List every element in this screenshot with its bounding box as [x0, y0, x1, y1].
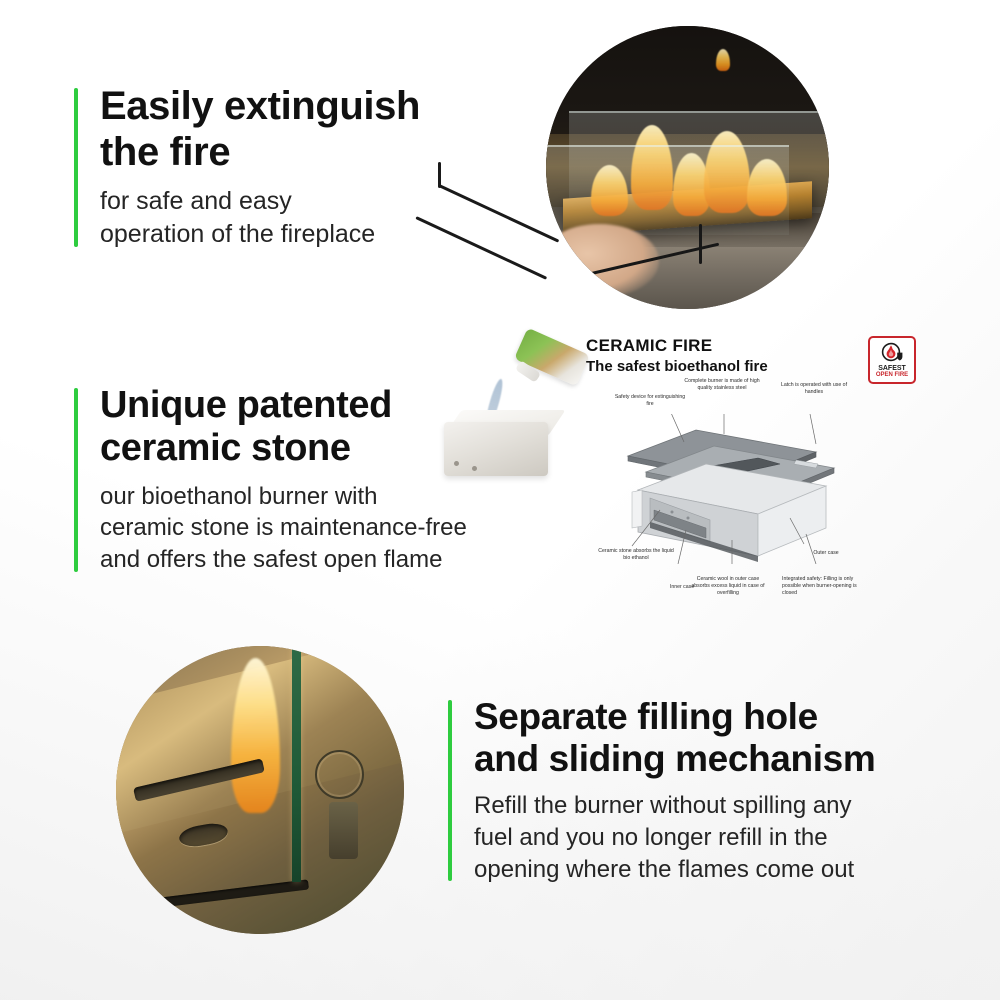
- photo-flame-6: [716, 49, 730, 72]
- accent-bar-2: [74, 388, 78, 572]
- bioethanol-bottle: [514, 328, 590, 387]
- heading-filling-hole: Separate filling hole and sliding mechan…: [474, 696, 948, 780]
- photo-lit-burner: [546, 26, 829, 309]
- accent-bar-3: [448, 700, 452, 881]
- badge-line-2: OPEN FIRE: [876, 372, 908, 379]
- heading-line-1: Easily extinguish: [100, 84, 494, 130]
- section-filling-hole-text: Separate filling hole and sliding mechan…: [448, 696, 948, 885]
- sliding-mechanism-knob: [329, 802, 358, 860]
- glass-panel-edge: [292, 646, 301, 882]
- sub-line-2: ceramic stone is maintenance-free: [100, 512, 544, 544]
- sub-line-2: fuel and you no longer refill in the: [474, 822, 948, 854]
- callout-ceramic-wool: Ceramic wool in outer case absorbs exces…: [690, 576, 766, 597]
- stone-hole-2: [472, 466, 477, 471]
- callout-outer-case: Outer case: [788, 550, 864, 557]
- flame-shield-icon: [879, 342, 905, 364]
- ceramic-fire-diagram: CERAMIC FIRE The safest bioethanol fire …: [586, 336, 916, 616]
- callout-ceramic-stone: Ceramic stone absorbs the liquid bio eth…: [598, 548, 674, 562]
- badge-line-1: SAFEST: [878, 365, 906, 372]
- accent-bar-1: [74, 88, 78, 247]
- stone-hole-1: [454, 461, 459, 466]
- heading-line-1: Separate filling hole: [474, 696, 948, 738]
- photo-ceramic-stone-pour: [432, 338, 592, 488]
- photo-glass-front-panel: [546, 145, 789, 236]
- sub-line-3: opening where the flames come out: [474, 854, 948, 886]
- exploded-burner-drawing: [620, 414, 868, 564]
- heading-line-2: and sliding mechanism: [474, 738, 948, 780]
- sub-line-1: Refill the burner without spilling any: [474, 790, 948, 822]
- diagram-title: CERAMIC FIRE: [586, 336, 916, 356]
- subtext-ceramic-stone: our bioethanol burner with ceramic stone…: [100, 481, 544, 576]
- safest-open-fire-badge: SAFEST OPEN FIRE: [868, 336, 916, 384]
- subtext-filling-hole: Refill the burner without spilling any f…: [474, 790, 948, 885]
- sliding-mechanism-wheel: [315, 750, 364, 799]
- photo-rod-vertical: [699, 224, 702, 264]
- photo-burner-closeup: [116, 646, 404, 934]
- infographic-canvas: Easily extinguish the fire for safe and …: [0, 0, 1000, 1000]
- callout-integrated-safety: Integrated safety: Filling is only possi…: [782, 576, 872, 597]
- diagram-subtitle: The safest bioethanol fire: [586, 358, 916, 375]
- callout-safety-device: Safety device for extinguishing fire: [612, 394, 688, 408]
- sub-line-3: and offers the safest open flame: [100, 544, 544, 576]
- callout-complete-burner: Complete burner is made of high quality …: [684, 378, 760, 392]
- callout-latch: Latch is operated with use of handles: [776, 382, 852, 396]
- ceramic-stone-block: [444, 422, 548, 476]
